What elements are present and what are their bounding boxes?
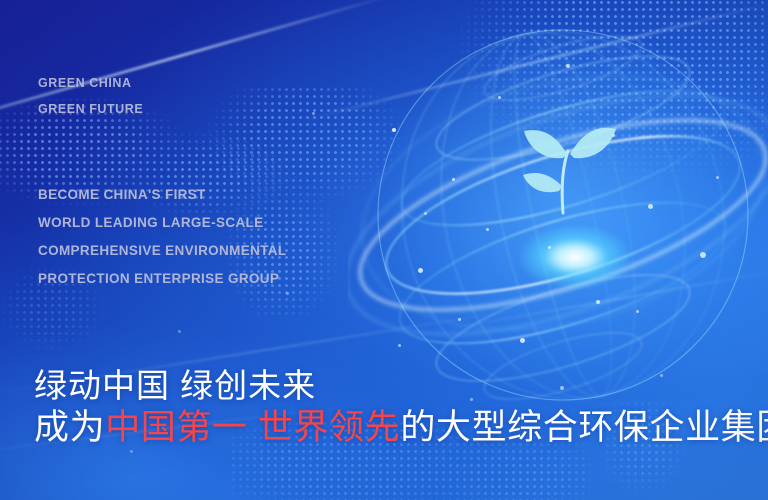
wireframe-globe — [348, 8, 768, 428]
tagline-line-2: WORLD LEADING LARGE-SCALE — [38, 209, 286, 237]
headline-suffix: 的大型综合环保企业集团 — [400, 408, 768, 447]
headline-accent: 中国第一 世界领先 — [105, 408, 400, 447]
tagline-line-3: COMPREHENSIVE ENVIRONMENTAL — [38, 237, 286, 265]
headline-line-2: 成为中国第一 世界领先的大型综合环保企业集团 — [34, 406, 768, 450]
headline-prefix: 成为 — [34, 408, 105, 447]
tagline-line-4: PROTECTION ENTERPRISE GROUP — [38, 265, 286, 293]
eyebrow-line-2: GREEN FUTURE — [38, 96, 143, 122]
headline: 绿动中国 绿创未来 成为中国第一 世界领先的大型综合环保企业集团 — [34, 366, 768, 450]
tagline-line-1: BECOME CHINA'S FIRST — [38, 181, 286, 209]
globe-core-glow — [520, 226, 630, 288]
tagline-text: BECOME CHINA'S FIRST WORLD LEADING LARGE… — [38, 181, 286, 293]
eyebrow-line-1: GREEN CHINA — [38, 70, 143, 96]
promo-banner: GREEN CHINA GREEN FUTURE BECOME CHINA'S … — [0, 0, 768, 500]
eyebrow-text: GREEN CHINA GREEN FUTURE — [38, 70, 143, 122]
headline-line-1: 绿动中国 绿创未来 — [34, 366, 768, 406]
